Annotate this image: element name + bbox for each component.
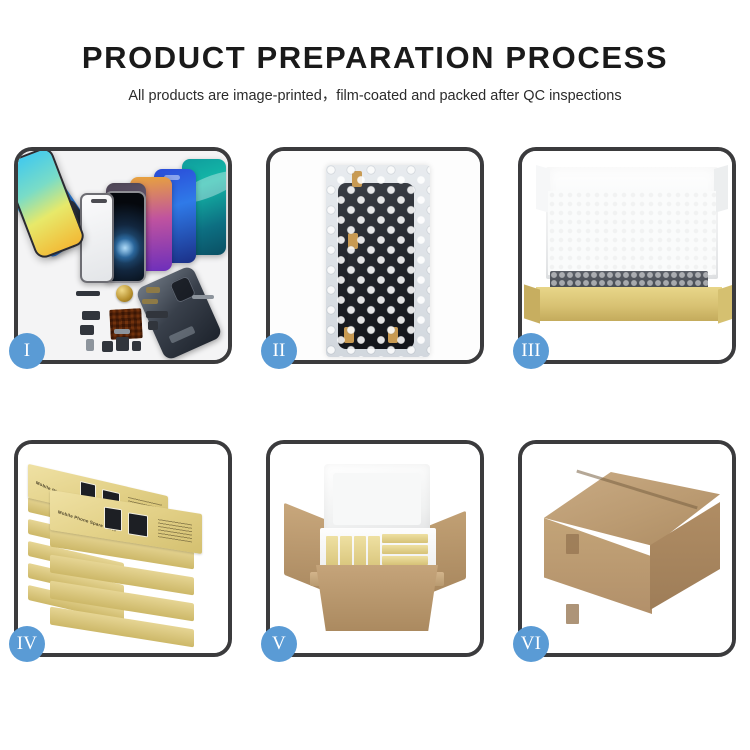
process-step-panel-6: VI xyxy=(518,440,736,657)
process-step-panel-3: III xyxy=(518,147,736,364)
retail-box-stack-icon: Mobile Phone Spare Parts Mobile Phone Sp… xyxy=(18,444,228,653)
part-icon-connector-2 xyxy=(148,321,158,330)
step-2-photo xyxy=(270,151,480,360)
part-icon-cable-2 xyxy=(80,325,94,335)
yellow-box-tray-icon xyxy=(536,287,722,321)
step-badge-2: II xyxy=(261,333,297,369)
foam-sheet-icon xyxy=(548,191,716,275)
part-icon-connector-1 xyxy=(146,311,168,318)
part-icon-camera xyxy=(116,337,129,351)
part-icon-strip-1 xyxy=(76,291,100,296)
process-step-panel-5: V xyxy=(266,440,484,657)
step-6-photo xyxy=(522,444,732,653)
page-subtitle: All products are image-printed，film-coat… xyxy=(0,87,750,105)
product-preparation-process-page: PRODUCT PREPARATION PROCESS All products… xyxy=(0,0,750,750)
retail-box-spec-lines-front xyxy=(158,517,192,542)
step-3-photo xyxy=(522,151,732,360)
part-icon-sensor xyxy=(132,341,141,351)
process-step-panel-4: Mobile Phone Spare Parts Mobile Phone Sp… xyxy=(14,440,232,657)
step-badge-5: V xyxy=(261,626,297,662)
retail-box-window-front-1 xyxy=(104,507,122,532)
step-4-photo: Mobile Phone Spare Parts Mobile Phone Sp… xyxy=(18,444,228,653)
step-1-photo xyxy=(18,151,228,360)
part-icon-flex-2 xyxy=(142,299,158,304)
bubble-wrap-bag-icon xyxy=(326,165,430,357)
carton-tape-icon-1 xyxy=(566,534,579,554)
process-step-grid: I II xyxy=(14,147,736,657)
packed-yellow-box-5 xyxy=(382,534,428,543)
chip-grid-icon xyxy=(109,308,143,340)
retail-box-window-front-2 xyxy=(128,512,148,537)
carton-front-icon xyxy=(316,565,438,631)
part-icon-button-2 xyxy=(102,341,113,352)
process-step-panel-1: I xyxy=(14,147,232,364)
packed-yellow-box-7 xyxy=(382,556,428,565)
process-step-panel-2: II xyxy=(266,147,484,364)
step-badge-3: III xyxy=(513,333,549,369)
foam-lid-open-icon xyxy=(324,464,430,534)
carton-tape-icon-2 xyxy=(566,604,579,624)
part-icon-button-1 xyxy=(86,339,94,351)
speaker-module-icon xyxy=(116,285,133,302)
header: PRODUCT PREPARATION PROCESS All products… xyxy=(0,40,750,105)
bubble-highlight-layer xyxy=(326,165,430,357)
tempered-glass-icon xyxy=(80,193,114,283)
page-title: PRODUCT PREPARATION PROCESS xyxy=(0,40,750,76)
step-5-photo xyxy=(270,444,480,653)
step-badge-6: VI xyxy=(513,626,549,662)
tool-icon-tweezers xyxy=(192,295,214,299)
packed-yellow-box-6 xyxy=(382,545,428,554)
step-badge-1: I xyxy=(9,333,45,369)
part-icon-bracket xyxy=(114,329,130,334)
step-badge-4: IV xyxy=(9,626,45,662)
part-icon-flex-1 xyxy=(146,287,160,293)
part-icon-cable-1 xyxy=(82,311,100,320)
